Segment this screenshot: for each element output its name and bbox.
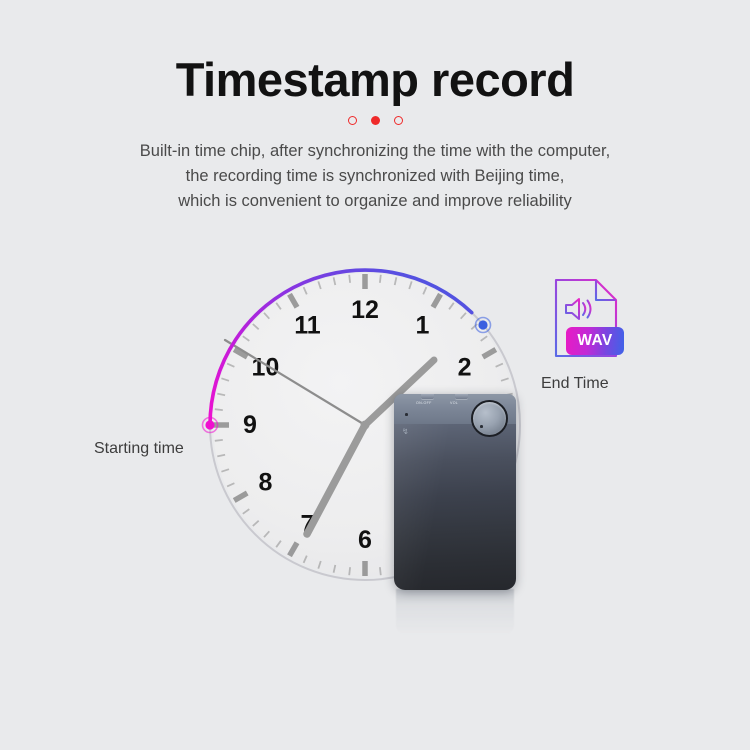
end-marker — [478, 320, 487, 329]
end-time-label: End Time — [541, 375, 609, 393]
device-reflection — [396, 589, 514, 635]
clock-tick-minute — [349, 567, 350, 575]
clock-numeral-11: 11 — [294, 311, 321, 339]
power-slider[interactable] — [421, 394, 434, 399]
page-root: Timestamp record Built-in time chip, aft… — [0, 0, 750, 750]
device-top-panel: ON-OFF VOL — [394, 394, 516, 424]
clock-numeral-12: 12 — [351, 296, 379, 324]
power-label: ON-OFF — [416, 401, 432, 405]
clock-numeral-1: 1 — [416, 311, 430, 339]
clock-illustration: 121267891011 — [0, 0, 750, 750]
device-sheen — [394, 424, 516, 590]
volume-label: VOL — [450, 401, 458, 405]
clock-tick-minute — [380, 275, 381, 283]
clock-numeral-9: 9 — [243, 411, 257, 439]
wav-badge-label: WAV — [566, 327, 624, 355]
clock-tick-minute — [380, 567, 381, 575]
clock-tick-minute — [215, 440, 223, 441]
start-marker — [205, 420, 214, 429]
volume-slider[interactable] — [455, 394, 468, 399]
voice-recorder-device[interactable]: ON-OFF VOL ↯ — [394, 394, 516, 590]
usb-port-icon: ↯ — [402, 428, 409, 436]
clock-numeral-8: 8 — [258, 469, 272, 497]
clock-numeral-2: 2 — [458, 354, 472, 382]
starting-time-label: Starting time — [94, 440, 184, 458]
clock-tick-minute — [349, 275, 350, 283]
clock-center-cap — [361, 421, 370, 430]
microphone-hole — [405, 413, 408, 416]
illustration-stage: 121267891011 — [0, 0, 750, 750]
clock-numeral-6: 6 — [358, 526, 372, 554]
rotary-knob[interactable] — [471, 400, 508, 437]
clock-tick-minute — [215, 409, 223, 410]
wav-file-icon: WAV — [552, 276, 618, 360]
